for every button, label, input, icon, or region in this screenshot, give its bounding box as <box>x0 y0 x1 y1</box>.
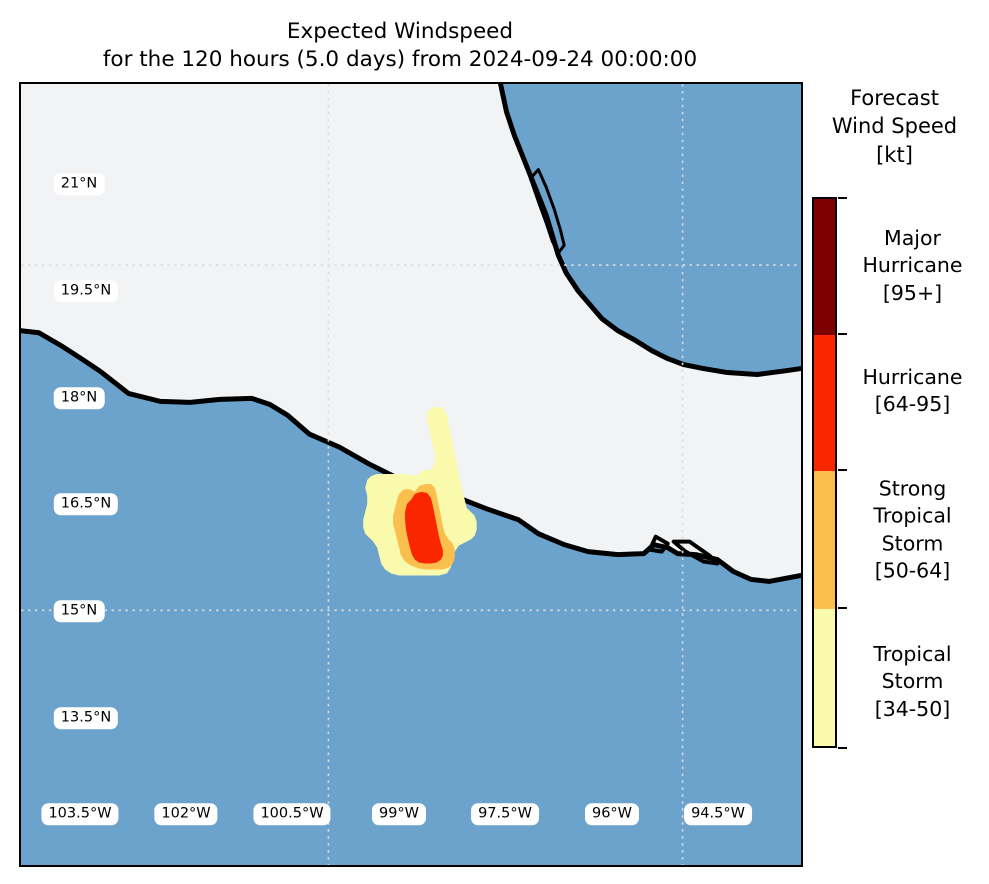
ytick-label-13-5N: 13.5°N <box>54 707 118 729</box>
xtick-label-100-5W: 100.5°W <box>253 803 330 825</box>
colorbar-tick-34 <box>838 747 847 749</box>
colorbar-label-major-hurricane: Major Hurricane [95+] <box>836 225 989 307</box>
xtick-label-102W: 102°W <box>154 803 217 825</box>
colorbar-segment-hurricane[interactable] <box>814 335 835 471</box>
colorbar[interactable] <box>812 197 837 748</box>
map-canvas <box>21 84 801 865</box>
xtick-label-99W: 99°W <box>372 803 426 825</box>
colorbar-tick-95 <box>838 333 847 335</box>
ytick-label-15N: 15°N <box>54 600 105 622</box>
ytick-label-19-5N: 19.5°N <box>54 280 118 302</box>
colorbar-label-hurricane: Hurricane [64-95] <box>836 364 989 419</box>
colorbar-segment-tropical-storm[interactable] <box>814 609 835 748</box>
colorbar-tick-top <box>838 197 847 199</box>
ytick-label-16-5N: 16.5°N <box>54 493 118 515</box>
colorbar-label-tropical-storm: Tropical Storm [34-50] <box>836 641 989 723</box>
colorbar-segment-strong-tropical-storm[interactable] <box>814 471 835 609</box>
ytick-label-21N: 21°N <box>54 173 105 195</box>
xtick-label-97-5W: 97.5°W <box>471 803 539 825</box>
map-plot-area[interactable] <box>19 82 803 867</box>
colorbar-tick-50 <box>838 607 847 609</box>
xtick-label-103-5W: 103.5°W <box>41 803 118 825</box>
colorbar-title: Forecast Wind Speed [kt] <box>800 84 989 169</box>
colorbar-label-strong-tropical-storm: Strong Tropical Storm [50-64] <box>836 476 989 585</box>
colorbar-segment-major-hurricane[interactable] <box>814 199 835 335</box>
page-title: Expected Windspeed for the 120 hours (5.… <box>0 18 800 75</box>
colorbar-tick-64 <box>838 469 847 471</box>
xtick-label-96W: 96°W <box>585 803 639 825</box>
ytick-label-18N: 18°N <box>54 387 105 409</box>
xtick-label-94-5W: 94.5°W <box>684 803 752 825</box>
